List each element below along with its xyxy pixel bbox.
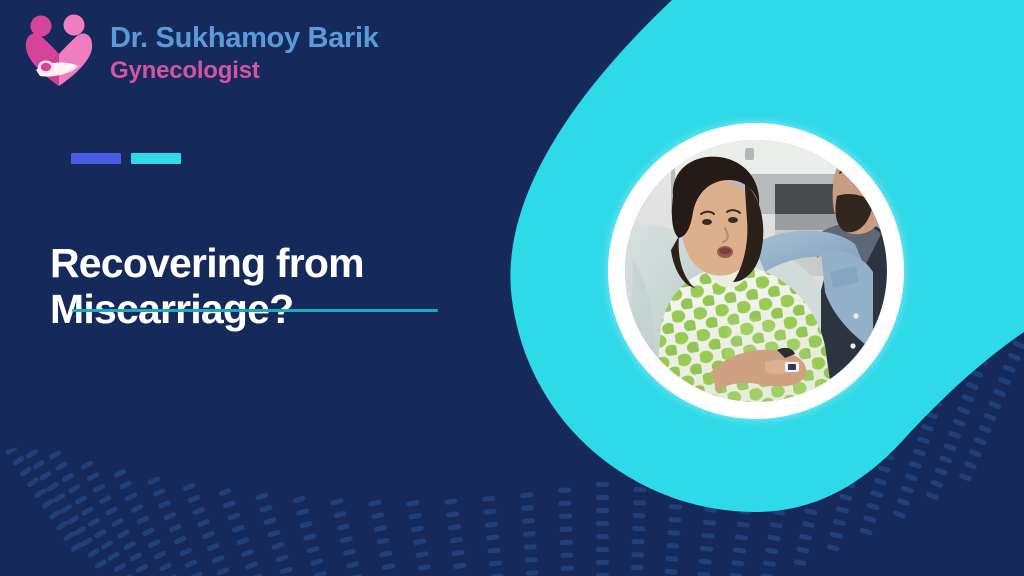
banner-canvas: Dr. Sukhamoy Barik Gynecologist Recoveri… <box>0 0 1024 576</box>
brand-logo[interactable]: Dr. Sukhamoy Barik Gynecologist <box>22 14 379 92</box>
logo-doctor-name: Dr. Sukhamoy Barik <box>110 24 379 53</box>
page-title-underline <box>72 309 438 312</box>
accent-bar-blue <box>71 153 121 164</box>
pregnant-woman-in-hospital-bed-photo <box>625 140 887 402</box>
accent-bars <box>71 153 181 164</box>
logo-specialty: Gynecologist <box>110 59 379 83</box>
page-title-line-1: Recovering from <box>50 241 480 287</box>
page-title: Recovering from Miscarriage? <box>50 241 480 333</box>
photo-ring <box>608 123 904 419</box>
accent-bar-cyan <box>131 153 181 164</box>
parents-heart-with-baby-icon <box>22 14 96 92</box>
